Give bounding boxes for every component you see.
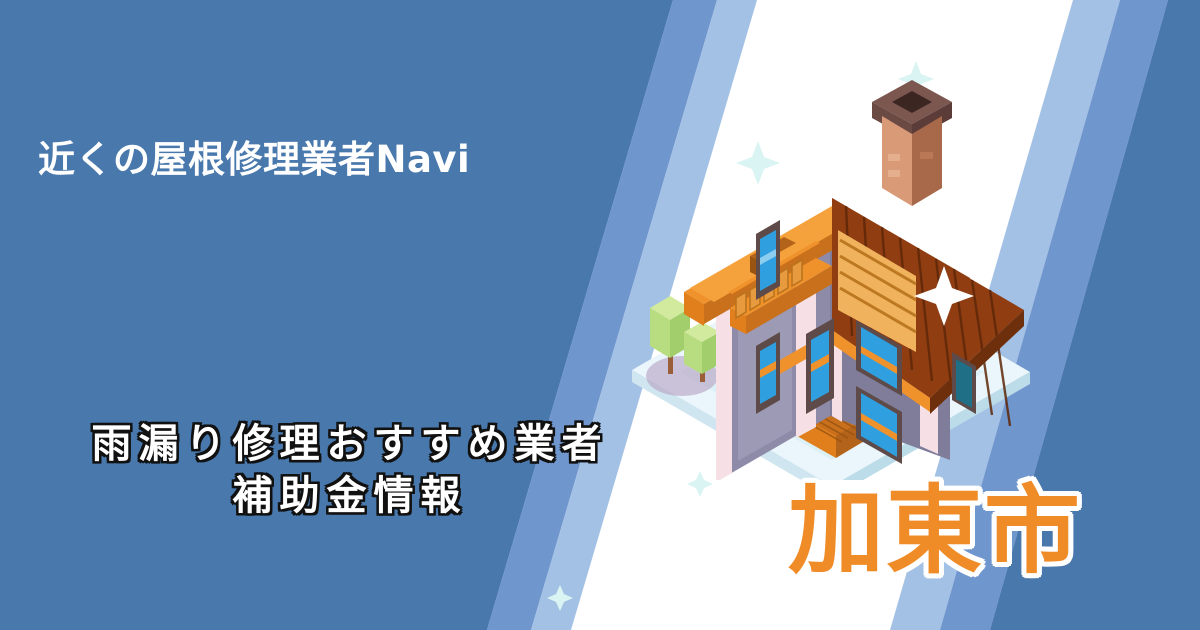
site-title: 近くの屋根修理業者Navi — [38, 138, 470, 182]
sparkle-icon — [547, 585, 573, 611]
banner-root: 近くの屋根修理業者Navi 雨漏り修理おすすめ業者 補助金情報 加東市 — [0, 0, 1200, 630]
chimney — [872, 80, 952, 206]
entry-door — [806, 318, 834, 414]
headline-block: 雨漏り修理おすすめ業者 補助金情報 — [0, 418, 700, 522]
headline-line-2: 補助金情報 — [0, 470, 700, 522]
headline-line-1: 雨漏り修理おすすめ業者 — [0, 418, 700, 470]
window-left-lower — [756, 332, 780, 414]
city-name: 加東市 — [788, 481, 1082, 582]
window-left-upper — [756, 220, 780, 300]
